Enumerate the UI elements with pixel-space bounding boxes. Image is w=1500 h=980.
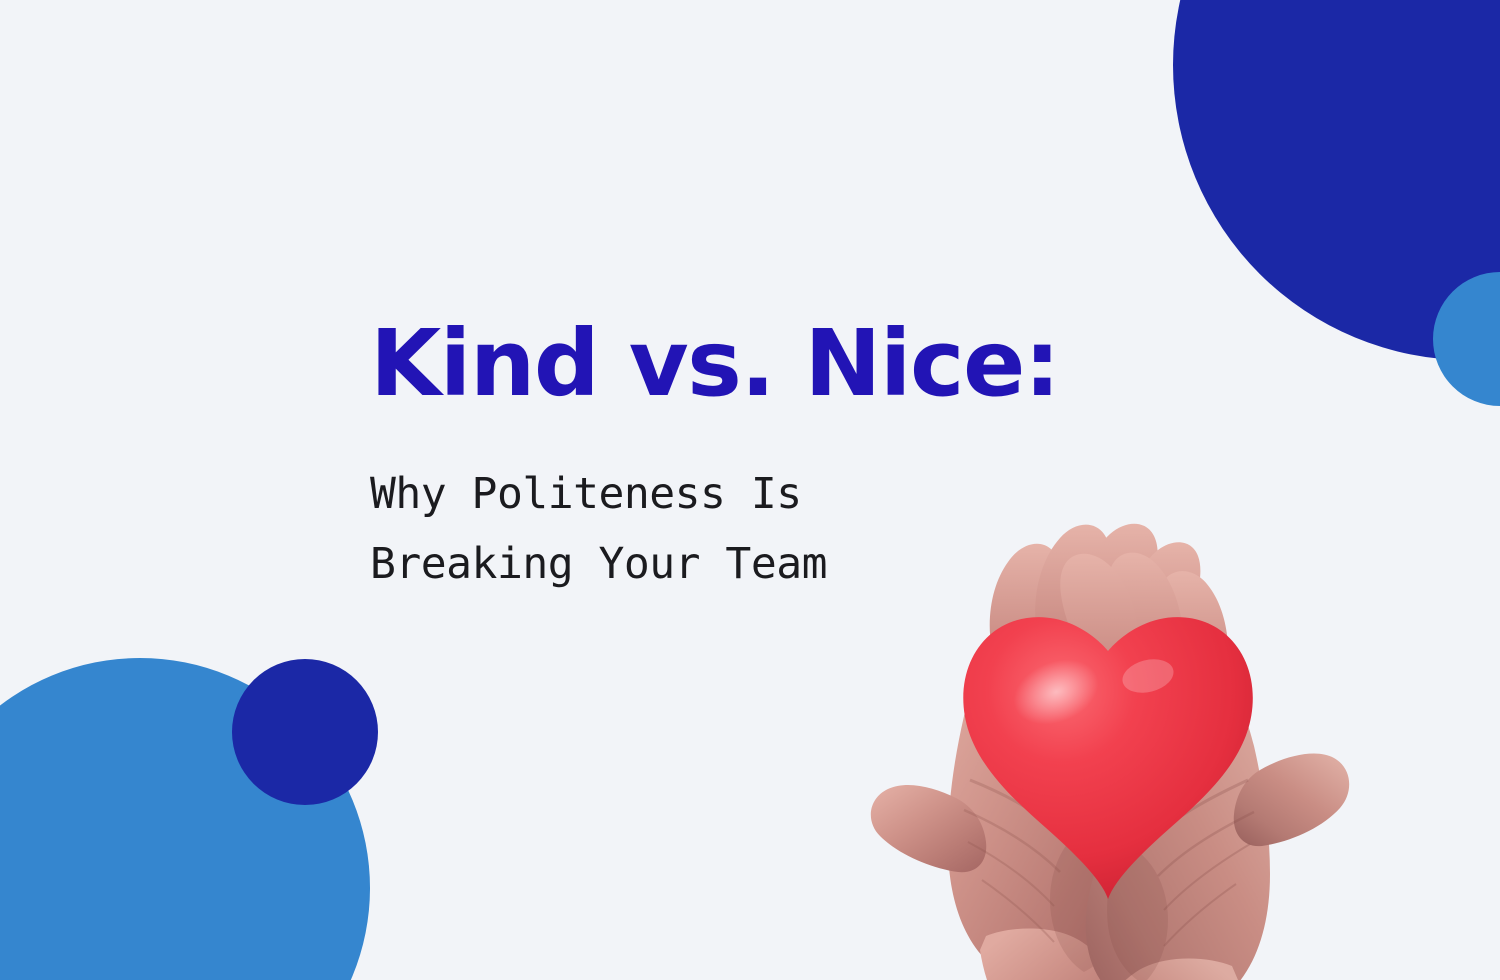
page-title: Kind vs. Nice: [370,318,1070,410]
bottom-left-light-blue-circle-icon [0,658,370,980]
bottom-left-navy-circle-icon [232,659,378,805]
hands-holding-heart-image [860,480,1360,980]
top-right-light-blue-circle-icon [1433,272,1500,406]
top-right-navy-circle-icon [1173,0,1500,360]
title-card-canvas: Kind vs. Nice: Why Politeness Is Breakin… [0,0,1500,980]
